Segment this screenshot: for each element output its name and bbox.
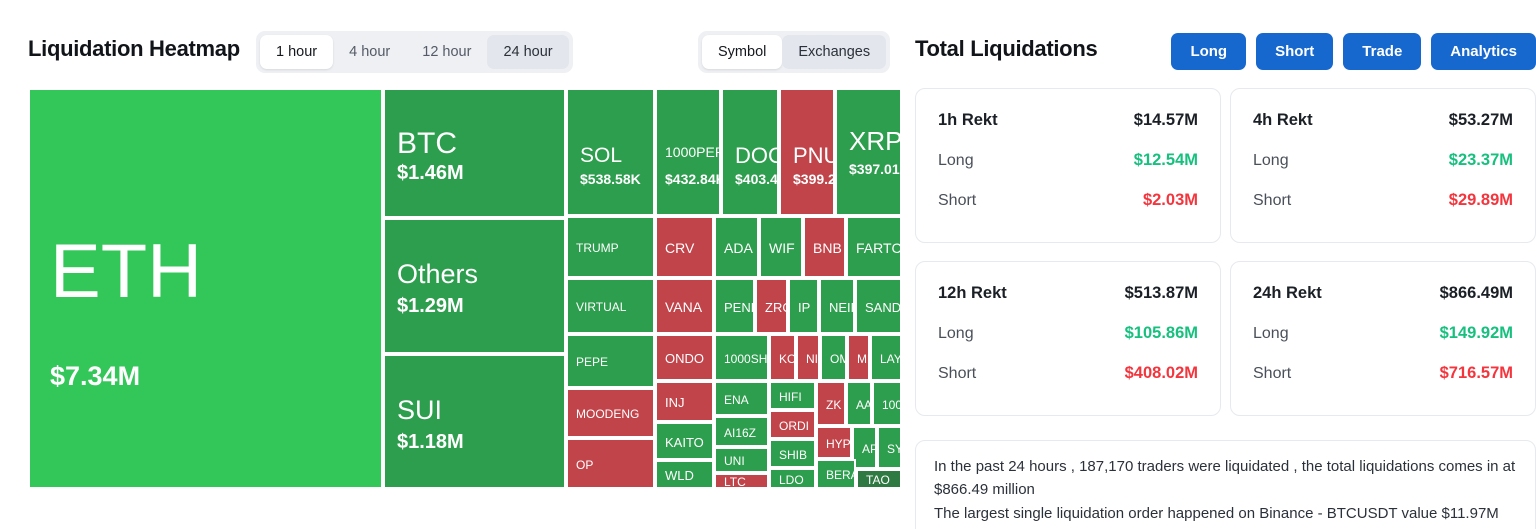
treemap-tile-symbol: LTC [724,476,746,488]
treemap-tile-ena[interactable]: ENA [714,381,769,416]
timeframe-24-hour[interactable]: 24 hour [487,35,568,69]
treemap-tile-ltc[interactable]: LTC [714,473,769,489]
treemap-tile-pepe[interactable]: PEPE [566,334,655,388]
treemap-tile-eth[interactable]: ETH$7.34M [28,88,383,489]
treemap-tile-symbol: ORDI [779,420,809,432]
timeframe-4-hour[interactable]: 4 hour [333,35,406,69]
treemap-tile-symbol: OP [576,459,593,471]
treemap-tile-symbol: VANA [665,300,702,314]
treemap-tile-ada[interactable]: ADA [714,216,759,278]
treemap-tile-value: $1.46M [397,163,464,183]
treemap-tile-symbol: LDO [779,474,804,486]
summary-line-2: The largest single liquidation order hap… [934,502,1517,525]
rekt-card-1h-period: 1h Rekt [938,111,998,130]
treemap-tile-symbol: ADA [724,241,753,255]
rekt-card-12h-long-row: Long $105.86M [938,324,1198,343]
rekt-card-1h-short-value: $2.03M [1143,191,1198,210]
treemap-tile-symbol: TRUMP [576,242,619,254]
treemap-tile-symbol: KAITO [665,436,704,449]
treemap-tile-symbol: OM [830,353,847,365]
treemap-tile-symbol: SUI [397,397,442,424]
treemap-tile-layer[interactable]: LAYER [870,334,902,381]
treemap-tile-value: $397.01K [849,162,902,176]
rekt-card-24h-total: $866.49M [1440,284,1513,303]
treemap-tile-crv[interactable]: CRV [655,216,714,278]
rekt-card-4h: 4h Rekt $53.27M Long $23.37M Short $29.8… [1230,88,1536,243]
rekt-card-4h-period: 4h Rekt [1253,111,1313,130]
treemap-tile-symbol: SAND [865,301,901,314]
timeframe-segmented-control: 1 hour 4 hour 12 hour 24 hour [256,31,573,73]
treemap-tile-wif[interactable]: WIF [759,216,803,278]
rekt-card-1h-short-row: Short $2.03M [938,191,1198,210]
treemap-tile-symbol: HYPE [826,438,852,450]
treemap-tile-symbol: ZRO [765,301,788,314]
rekt-card-1h: 1h Rekt $14.57M Long $12.54M Short $2.03… [915,88,1221,243]
rekt-card-1h-long-row: Long $12.54M [938,151,1198,170]
rekt-card-12h-short-value: $408.02M [1125,364,1198,383]
treemap-tile-ai16z[interactable]: AI16Z [714,416,769,447]
rekt-card-12h-long-value: $105.86M [1125,324,1198,343]
treemap-tile-value: $399.20K [793,172,835,186]
treemap-tile-bnb[interactable]: BNB [803,216,846,278]
treemap-tile-sui[interactable]: SUI$1.18M [383,354,566,489]
rekt-card-4h-long-value: $23.37M [1449,151,1513,170]
treemap-tile-pnut[interactable]: PNUT$399.20K [779,88,835,216]
treemap-tile-symbol: NIL [806,353,820,365]
rekt-card-4h-short-value: $29.89M [1449,191,1513,210]
rekt-card-12h-short-label: Short [938,365,976,383]
rekt-card-4h-long-row: Long $23.37M [1253,151,1513,170]
treemap-tile-symbol: 1000SHIB [724,353,769,365]
rekt-card-4h-short-row: Short $29.89M [1253,191,1513,210]
treemap-tile-symbol: LAYER [880,353,902,365]
treemap-tile-uni[interactable]: UNI [714,447,769,473]
treemap-tile-kaito[interactable]: KAITO [655,422,714,460]
treemap-tile-zk[interactable]: ZK [816,381,846,426]
treemap-tile-symbol: PENDLE [724,301,755,314]
treemap-tile-value: $432.84K [665,172,721,186]
treemap-tile-symbol: SHIB [779,449,807,461]
total-liquidations-title: Total Liquidations [915,36,1097,62]
treemap-tile-doge[interactable]: DOGE$403.42K [721,88,779,216]
treemap-tile-btc[interactable]: BTC$1.46M [383,88,566,218]
rekt-card-1h-total: $14.57M [1134,111,1198,130]
action-button-group: Long Short Trade Analytics [1171,33,1536,70]
treemap-tile-1000shib[interactable]: 1000SHIB [714,334,769,381]
short-button[interactable]: Short [1256,33,1333,70]
treemap-tile-symbol: WLD [665,469,694,482]
treemap-tile-vana[interactable]: VANA [655,278,714,334]
treemap-tile-trump[interactable]: TRUMP [566,216,655,278]
treemap-tile-bera[interactable]: BERA [816,459,856,489]
treemap-tile-fartcoin[interactable]: FARTCOIN [846,216,902,278]
liquidation-treemap[interactable]: ETH$7.34MBTC$1.46MOthers$1.29MSUI$1.18MS… [28,88,902,489]
rekt-card-1h-long-value: $12.54M [1134,151,1198,170]
treemap-tile-symbol: DOGE [735,145,779,167]
mode-exchanges[interactable]: Exchanges [782,35,886,69]
treemap-tile-ip[interactable]: IP [788,278,819,334]
rekt-card-12h-total: $513.87M [1125,284,1198,303]
treemap-tile-hifi[interactable]: HIFI [769,381,816,410]
treemap-tile-wld[interactable]: WLD [655,460,714,489]
treemap-tile-symbol: PEPE [576,356,608,368]
treemap-tile-1000pepe[interactable]: 1000PEPE$432.84K [655,88,721,216]
rekt-card-4h-total: $53.27M [1449,111,1513,130]
treemap-tile-syn[interactable]: SYN [877,426,902,469]
trade-button[interactable]: Trade [1343,33,1421,70]
treemap-tile-value: $1.29M [397,296,464,316]
rekt-card-1h-header: 1h Rekt $14.57M [938,111,1198,130]
rekt-card-24h-long-row: Long $149.92M [1253,324,1513,343]
rekt-card-12h-long-label: Long [938,325,974,343]
treemap-tile-symbol: TAO [866,474,890,486]
rekt-card-12h-header: 12h Rekt $513.87M [938,284,1198,303]
treemap-tile-symbol: SOL [580,145,622,166]
rekt-card-12h-period: 12h Rekt [938,284,1007,303]
treemap-tile-ldo[interactable]: LDO [769,468,816,489]
treemap-tile-symbol: SYN [887,443,902,455]
rekt-card-4h-header: 4h Rekt $53.27M [1253,111,1513,130]
treemap-tile-mkr[interactable]: MKR [847,334,870,381]
rekt-card-24h-long-label: Long [1253,325,1289,343]
treemap-tile-symbol: INJ [665,396,685,409]
treemap-tile-symbol: FARTCOIN [856,241,902,255]
treemap-tile-symbol: XRP [849,128,902,154]
treemap-tile-symbol: ZK [826,399,841,411]
rekt-card-24h-short-label: Short [1253,365,1291,383]
treemap-tile-1000bonk[interactable]: 1000BONK [872,381,902,426]
treemap-tile-pendle[interactable]: PENDLE [714,278,755,334]
top-toolbar: Liquidation Heatmap 1 hour 4 hour 12 hou… [0,0,1536,85]
rekt-card-1h-long-label: Long [938,152,974,170]
rekt-card-4h-short-label: Short [1253,192,1291,210]
treemap-tile-ondo[interactable]: ONDO [655,334,714,381]
heatmap-page-title: Liquidation Heatmap [28,36,240,62]
treemap-tile-symbol: 1000BONK [882,399,902,411]
treemap-tile-symbol: BNB [813,241,842,255]
rekt-card-4h-long-label: Long [1253,152,1289,170]
treemap-tile-symbol: UNI [724,455,745,467]
timeframe-12-hour[interactable]: 12 hour [406,35,487,69]
rekt-card-24h-short-row: Short $716.57M [1253,364,1513,383]
long-button[interactable]: Long [1171,33,1246,70]
treemap-tile-op[interactable]: OP [566,438,655,489]
timeframe-1-hour[interactable]: 1 hour [260,35,333,69]
treemap-tile-xrp[interactable]: XRP$397.01K [835,88,902,216]
treemap-tile-symbol: 1000PEPE [665,145,721,159]
treemap-tile-nil[interactable]: NIL [796,334,820,381]
rekt-card-24h: 24h Rekt $866.49M Long $149.92M Short $7… [1230,261,1536,416]
treemap-tile-value: $538.58K [580,172,641,186]
treemap-tile-symbol: ETH [50,234,202,310]
rekt-card-12h: 12h Rekt $513.87M Long $105.86M Short $4… [915,261,1221,416]
mode-symbol[interactable]: Symbol [702,35,782,69]
treemap-tile-symbol: IP [798,301,810,314]
treemap-tile-symbol: PNUT [793,145,835,167]
treemap-tile-koma[interactable]: KOMA [769,334,796,381]
treemap-tile-symbol: Others [397,261,478,288]
rekt-card-24h-short-value: $716.57M [1440,364,1513,383]
treemap-tile-moodeng[interactable]: MOODENG [566,388,655,438]
treemap-tile-shib[interactable]: SHIB [769,439,816,468]
rekt-cards: 1h Rekt $14.57M Long $12.54M Short $2.03… [915,88,1536,434]
treemap-tile-ordi[interactable]: ORDI [769,410,816,439]
treemap-tile-value: $403.42K [735,172,779,186]
mode-segmented-control: Symbol Exchanges [698,31,890,73]
treemap-tile-symbol: VIRTUAL [576,301,626,313]
treemap-tile-symbol: MKR [857,353,870,365]
treemap-tile-symbol: BTC [397,129,457,159]
treemap-tile-hype[interactable]: HYPE [816,426,852,459]
treemap-tile-om[interactable]: OM [820,334,847,381]
treemap-tile-value: $7.34M [50,363,140,390]
treemap-tile-virtual[interactable]: VIRTUAL [566,278,655,334]
rekt-card-24h-header: 24h Rekt $866.49M [1253,284,1513,303]
treemap-tile-symbol: CRV [665,241,694,255]
liquidation-summary: In the past 24 hours , 187,170 traders w… [915,440,1536,529]
treemap-tile-sand[interactable]: SAND [855,278,902,334]
rekt-card-1h-short-label: Short [938,192,976,210]
rekt-card-24h-period: 24h Rekt [1253,284,1322,303]
treemap-tile-symbol: AI16Z [724,427,756,439]
treemap-tile-symbol: WIF [769,241,795,255]
summary-line-1: In the past 24 hours , 187,170 traders w… [934,455,1517,502]
treemap-tile-symbol: BERA [826,469,856,481]
analytics-button[interactable]: Analytics [1431,33,1536,70]
treemap-tile-symbol: AAVE [856,399,872,411]
treemap-tile-others[interactable]: Others$1.29M [383,218,566,354]
rekt-card-24h-long-value: $149.92M [1440,324,1513,343]
treemap-tile-neiro[interactable]: NEIRO [819,278,855,334]
rekt-card-12h-short-row: Short $408.02M [938,364,1198,383]
liquidation-dashboard: Liquidation Heatmap 1 hour 4 hour 12 hou… [0,0,1536,529]
treemap-tile-aave[interactable]: AAVE [846,381,872,426]
treemap-tile-symbol: ONDO [665,352,704,365]
treemap-tile-symbol: HIFI [779,391,802,403]
treemap-tile-symbol: API3 [862,443,877,455]
treemap-tile-value: $1.18M [397,432,464,452]
treemap-tile-symbol: MOODENG [576,408,639,420]
treemap-tile-symbol: ENA [724,394,749,406]
treemap-tile-inj[interactable]: INJ [655,381,714,422]
treemap-tile-symbol: KOMA [779,353,796,365]
treemap-tile-tao[interactable]: TAO [856,469,902,489]
treemap-tile-sol[interactable]: SOL$538.58K [566,88,655,216]
treemap-tile-symbol: NEIRO [829,301,855,314]
treemap-tile-zro[interactable]: ZRO [755,278,788,334]
